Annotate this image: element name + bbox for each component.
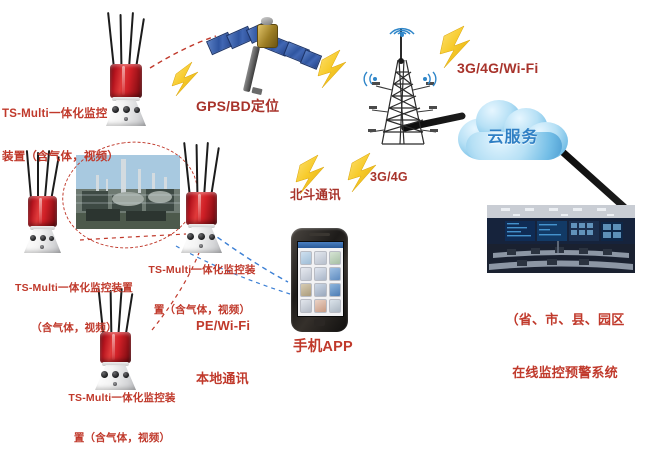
control-room-caption-line1: （省、市、县、园区 xyxy=(470,311,660,329)
app-icon[interactable] xyxy=(314,283,326,297)
app-icon[interactable] xyxy=(300,299,312,313)
beidou-label: 北斗通讯 xyxy=(290,188,341,204)
phone-home-button[interactable] xyxy=(314,319,325,326)
app-icon[interactable] xyxy=(329,267,341,281)
device-label-bottom-line1: TS-Multi一体化监控装 xyxy=(56,392,188,405)
satellite-body xyxy=(257,24,278,48)
device-label-left-line2: （含气体，视频） xyxy=(0,322,148,335)
app-icon[interactable] xyxy=(314,299,326,313)
device-label-center-line1: TS-Multi一体化监控装 xyxy=(138,264,266,277)
app-icon[interactable] xyxy=(329,283,341,297)
phone-app-grid[interactable] xyxy=(298,248,343,316)
cloud-service-node: 云服务 xyxy=(452,96,574,162)
device-label-bottom: TS-Multi一体化监控装 置（含气体，视频） xyxy=(56,366,188,471)
device-label-top-line2: 装置（含气体，视频） xyxy=(2,150,119,164)
satellite-node xyxy=(206,8,318,100)
device-label-left-line1: TS-Multi一体化监控装置 xyxy=(0,282,148,295)
app-icon[interactable] xyxy=(300,251,312,265)
phone-screen[interactable] xyxy=(297,241,344,317)
app-icon[interactable] xyxy=(314,251,326,265)
cellular-label: 3G/4G xyxy=(370,170,408,186)
device-label-left: TS-Multi一体化监控装置 （含气体，视频） xyxy=(0,256,148,361)
gps-bd-label: GPS/BD定位 xyxy=(196,98,279,116)
device-label-top-line1: TS-Multi一体化监控 xyxy=(2,107,119,121)
phone-speaker xyxy=(309,233,330,236)
app-icon[interactable] xyxy=(300,267,312,281)
control-center-node xyxy=(487,205,635,273)
mobile-network-label: 3G/4G/Wi-Fi xyxy=(457,60,538,78)
diagram-canvas: 云服务 xyxy=(0,0,668,406)
app-icon[interactable] xyxy=(314,267,326,281)
device-label-bottom-line2: 置（含气体，视频） xyxy=(56,432,188,445)
app-icon[interactable] xyxy=(329,299,341,313)
device-label-top: TS-Multi一体化监控 装置（含气体，视频） xyxy=(2,78,119,193)
cell-tower-node xyxy=(358,14,450,146)
control-room-caption-line2: 在线监控预警系统 xyxy=(470,364,660,382)
satellite-boom-tip xyxy=(251,87,262,95)
cloud-service-label: 云服务 xyxy=(452,123,574,147)
handheld-terminal[interactable] xyxy=(291,228,348,332)
satellite-boom xyxy=(243,46,260,92)
phone-connection-label-line1: PE/Wi-Fi xyxy=(196,317,250,335)
antenna-signal-left xyxy=(360,70,380,88)
lightning-bolt-device-satellite xyxy=(172,62,198,96)
satellite-dish xyxy=(261,17,273,25)
app-icon[interactable] xyxy=(329,251,341,265)
antenna-signal-top xyxy=(384,16,420,38)
phone-caption: 手机APP xyxy=(293,338,353,356)
control-room-caption: （省、市、县、园区 在线监控预警系统 xyxy=(470,276,660,416)
phone-connection-label: PE/Wi-Fi 本地通讯 xyxy=(196,282,250,422)
app-icon[interactable] xyxy=(300,283,312,297)
phone-connection-label-line2: 本地通讯 xyxy=(196,370,250,388)
antenna-signal-right xyxy=(420,70,440,88)
